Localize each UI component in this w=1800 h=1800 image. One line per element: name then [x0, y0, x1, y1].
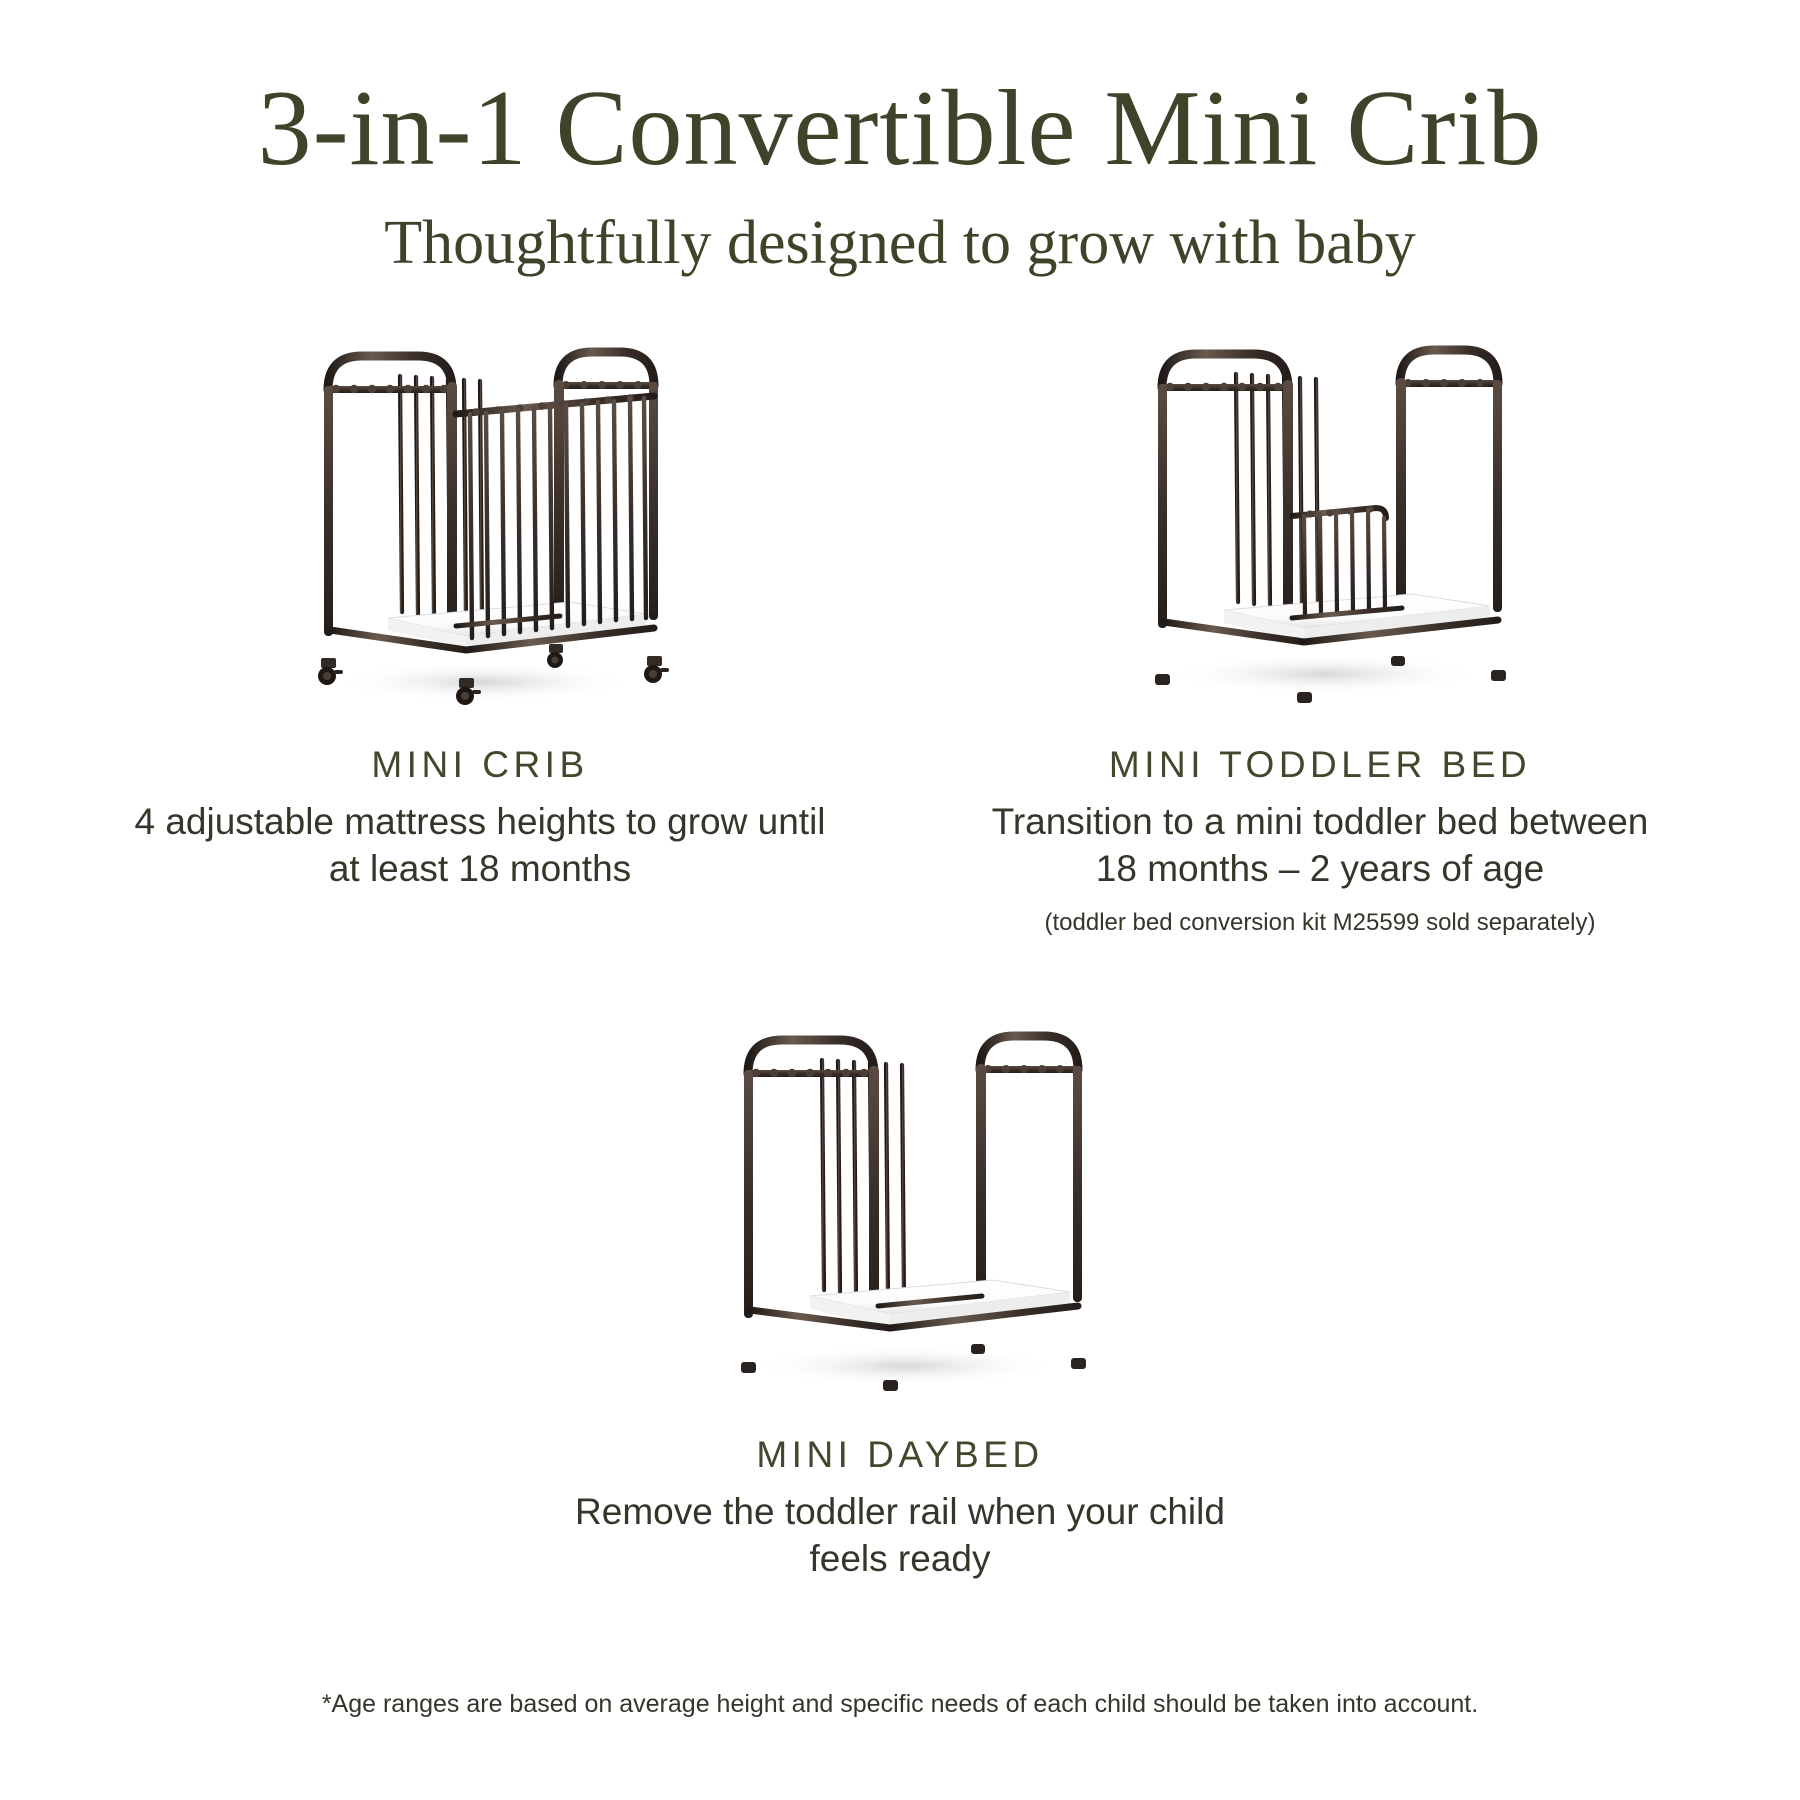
- panel-mini-toddler-bed: MINI TODDLER BED Transition to a mini to…: [900, 330, 1740, 938]
- footboard-arch: [1400, 350, 1498, 384]
- footboard-arch: [980, 1036, 1078, 1070]
- infographic-page: 3-in-1 Convertible Mini Crib Thoughtfull…: [0, 0, 1800, 1800]
- panel-label-mini-crib: MINI CRIB: [371, 744, 588, 786]
- headboard-spindles: [756, 1076, 854, 1310]
- back-panel-spindles: [822, 1060, 904, 1300]
- mini-toddler-bed-illustration: [1100, 330, 1540, 720]
- panel-row-top: MINI CRIB 4 adjustable mattress heights …: [0, 330, 1800, 938]
- corner-post-left-front: [324, 386, 333, 636]
- header: 3-in-1 Convertible Mini Crib Thoughtfull…: [0, 0, 1800, 278]
- corner-post-right-front: [1493, 380, 1502, 612]
- crib-svg-mini-crib: [270, 330, 690, 720]
- floor-shadow: [750, 1346, 1060, 1386]
- corner-post-right-back: [1396, 378, 1406, 616]
- panel-mini-daybed: MINI DAYBED Remove the toddler rail when…: [480, 1010, 1320, 1583]
- corner-post-right-front: [1073, 1066, 1082, 1302]
- headboard-spindles: [336, 392, 434, 630]
- footnote: *Age ranges are based on average height …: [0, 1690, 1800, 1719]
- corner-post-left-back: [1283, 380, 1293, 632]
- page-title: 3-in-1 Convertible Mini Crib: [0, 72, 1800, 185]
- panel-desc-mini-daybed: Remove the toddler rail when your child …: [550, 1488, 1250, 1583]
- page-subtitle: Thoughtfully designed to grow with baby: [0, 209, 1800, 277]
- corner-post-right-back: [976, 1064, 986, 1306]
- panel-row-bottom: MINI DAYBED Remove the toddler rail when…: [0, 1010, 1800, 1583]
- panel-desc-mini-toddler-bed: Transition to a mini toddler bed between…: [970, 798, 1670, 893]
- footboard-spindles: [1408, 386, 1478, 608]
- panel-note-conversion-kit: (toddler bed conversion kit M25599 sold …: [1045, 907, 1596, 938]
- headboard-spindles: [1170, 390, 1268, 622]
- panel-desc-mini-crib: 4 adjustable mattress heights to grow un…: [130, 798, 830, 893]
- footboard-spindles: [988, 1072, 1058, 1294]
- floor-shadow: [335, 662, 635, 702]
- corner-post-left-back: [447, 382, 457, 640]
- mini-crib-illustration: [270, 330, 690, 720]
- floor-shadow: [1165, 654, 1485, 694]
- corner-post-left-front: [744, 1070, 753, 1318]
- corner-post-right-back: [554, 380, 564, 624]
- mini-daybed-illustration: [690, 1010, 1110, 1410]
- corner-post-left-back: [869, 1066, 879, 1322]
- panel-label-mini-toddler-bed: MINI TODDLER BED: [1109, 744, 1531, 786]
- panel-label-mini-daybed: MINI DAYBED: [756, 1434, 1043, 1476]
- panel-mini-crib: MINI CRIB 4 adjustable mattress heights …: [60, 330, 900, 893]
- footboard-arch: [558, 352, 654, 386]
- corner-post-left-front: [1158, 384, 1167, 628]
- crib-svg-mini-daybed: [690, 1010, 1110, 1410]
- crib-svg-mini-toddler-bed: [1100, 330, 1540, 720]
- corner-post-right-front: [649, 382, 658, 620]
